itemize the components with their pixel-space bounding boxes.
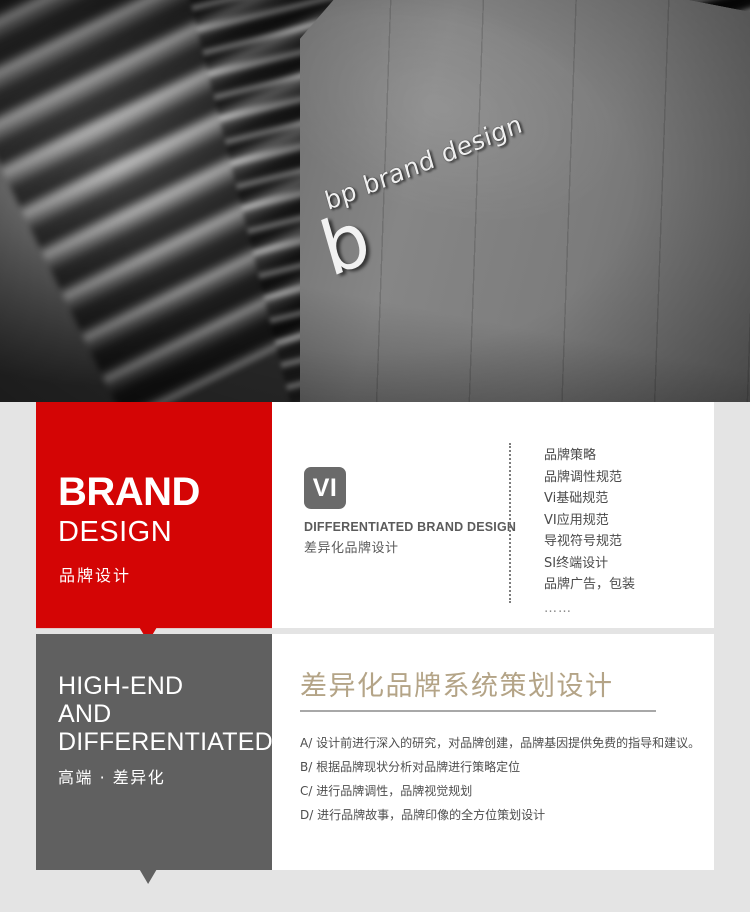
high-end-card: HIGH-END AND DIFFERENTIATED 高端 · 差异化 差异化… (36, 634, 714, 870)
bullet-item: D/ 进行品牌故事，品牌印像的全方位策划设计 (300, 803, 700, 827)
list-item-ellipsis: …… (544, 596, 635, 620)
concrete-wall (300, 0, 750, 402)
list-item: 导视符号规范 (544, 531, 635, 553)
list-item: Vi基础规范 (544, 488, 635, 510)
high-end-gray-panel: HIGH-END AND DIFFERENTIATED 高端 · 差异化 (36, 634, 272, 884)
list-item: 品牌策略 (544, 445, 635, 467)
brand-service-list: 品牌策略 品牌调性规范 Vi基础规范 VI应用规范 导视符号规范 SI终端设计 … (544, 445, 635, 619)
list-item: VI应用规范 (544, 510, 635, 532)
promo-page: b bp brand design BRAND DESIGN 品牌设计 VI D… (0, 0, 750, 912)
brand-title-line2: DESIGN (58, 518, 172, 547)
high-end-bullet-list: A/ 设计前进行深入的研究，对品牌创建，品牌基因提供免费的指导和建议。 B/ 根… (300, 731, 700, 827)
bullet-item: B/ 根据品牌现状分析对品牌进行策略定位 (300, 755, 700, 779)
bullet-item: A/ 设计前进行深入的研究，对品牌创建，品牌基因提供免费的指导和建议。 (300, 731, 700, 755)
vi-badge: VI (304, 467, 346, 509)
high-end-title-line2: AND (58, 702, 111, 728)
brand-title-line1: BRAND (58, 472, 200, 512)
brand-design-card: BRAND DESIGN 品牌设计 VI DIFFERENTIATED BRAN… (36, 402, 714, 628)
high-end-title-chinese: 高端 · 差异化 (58, 764, 165, 788)
hero-image: b bp brand design (0, 0, 750, 402)
high-end-heading: 差异化品牌系统策划设计 (300, 664, 614, 703)
brand-subtitle-english: DIFFERENTIATED BRAND DESIGN (304, 520, 516, 534)
high-end-title-line3: DIFFERENTIATED (58, 730, 273, 756)
high-end-title-line1: HIGH-END (58, 674, 183, 700)
brand-red-panel: BRAND DESIGN 品牌设计 (36, 402, 272, 642)
list-item: SI终端设计 (544, 553, 635, 575)
bullet-item: C/ 进行品牌调性，品牌视觉规划 (300, 779, 700, 803)
list-item: 品牌广告，包装 (544, 574, 635, 596)
vertical-dotted-divider (509, 443, 511, 603)
brand-title-chinese: 品牌设计 (59, 562, 131, 586)
list-item: 品牌调性规范 (544, 467, 635, 489)
heading-divider-rule (300, 710, 656, 712)
brand-subtitle-chinese: 差异化品牌设计 (304, 537, 399, 556)
